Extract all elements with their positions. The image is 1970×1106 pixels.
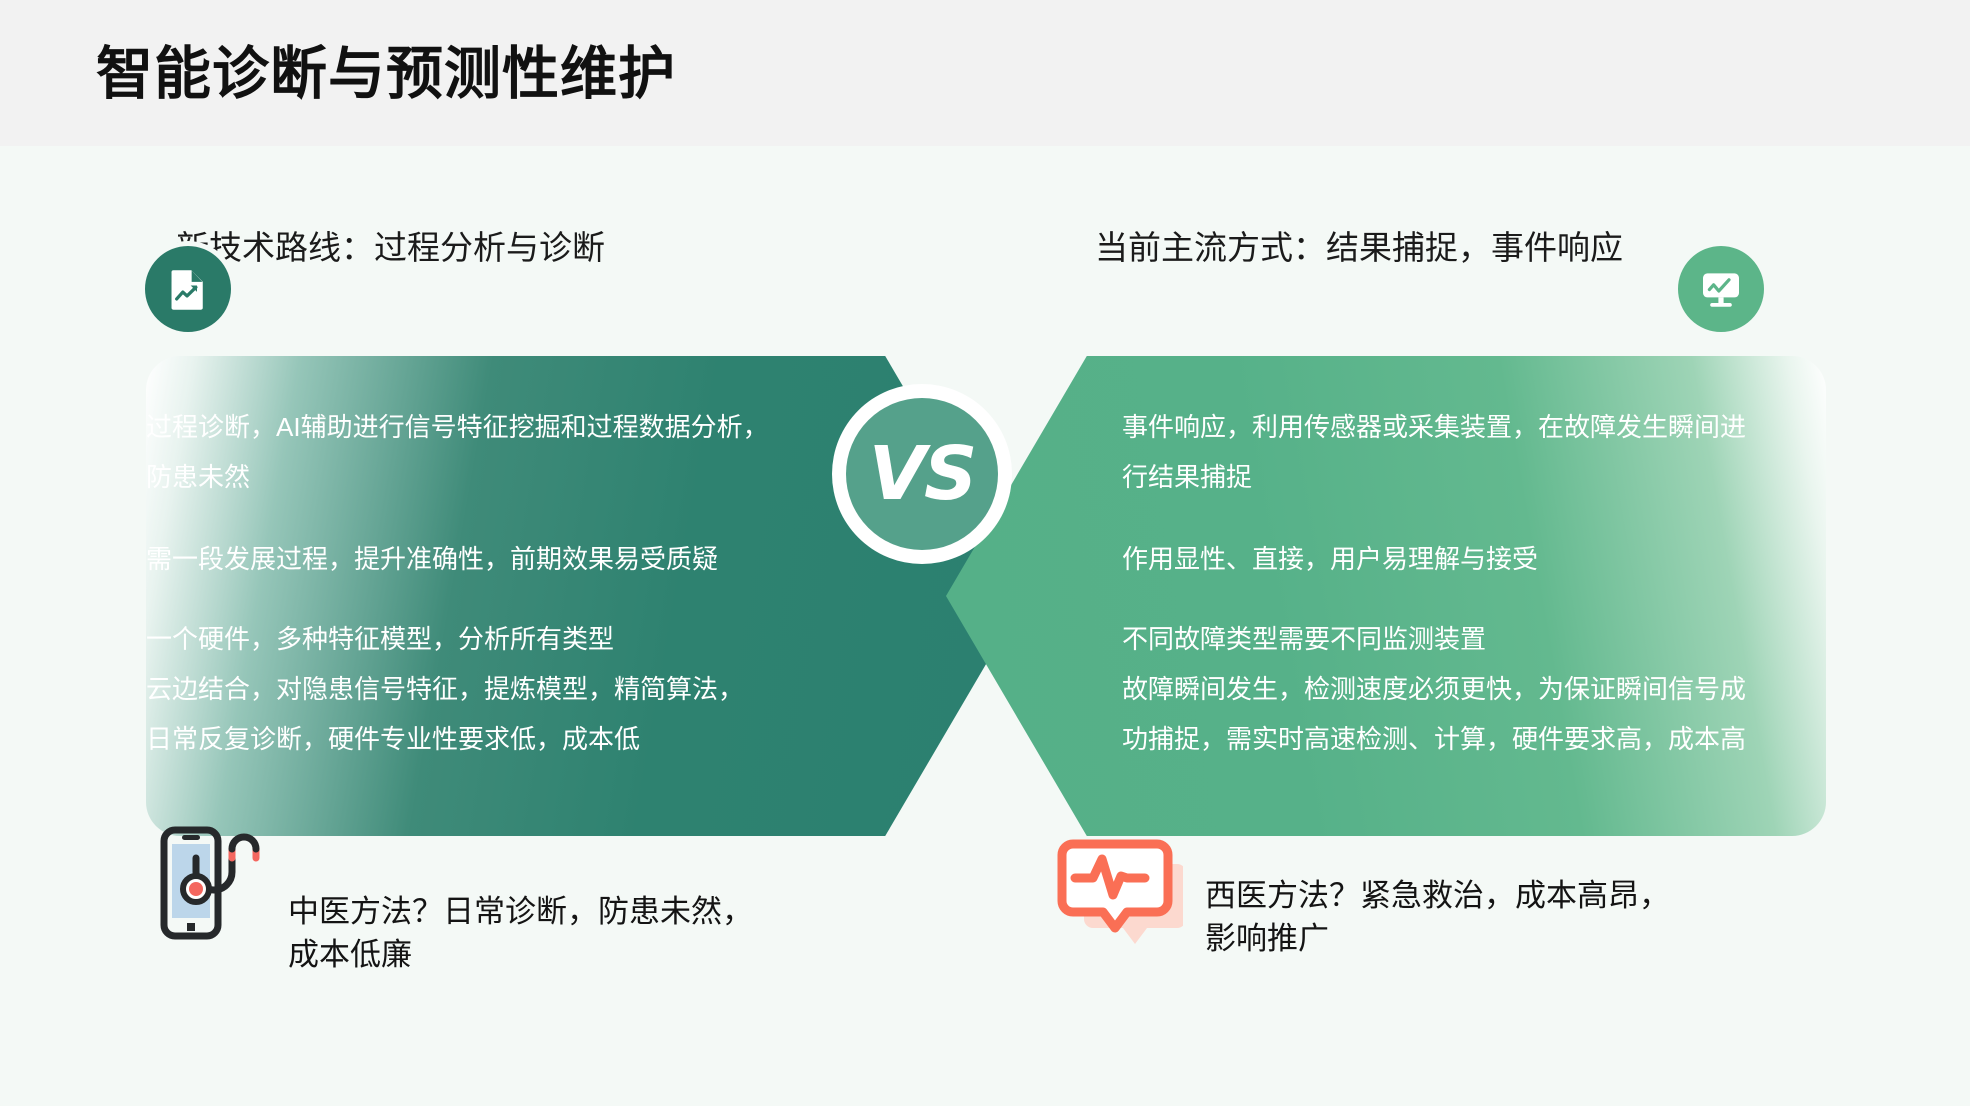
right-card-badge: [1673, 241, 1769, 337]
right-card-paragraph-3: 不同故障类型需要不同监测装置 故障瞬间发生，检测速度必须更快，为保证瞬间信号成 …: [1122, 614, 1822, 764]
left-footer-caption: 中医方法？日常诊断，防患未然， 成本低廉: [288, 818, 753, 976]
page-title: 智能诊断与预测性维护: [96, 28, 676, 110]
monitor-chart-icon: [1697, 265, 1745, 313]
phone-stethoscope-icon: [150, 818, 278, 946]
left-card-badge: [140, 241, 236, 337]
vs-label: VS: [869, 431, 976, 517]
slide-stage: 新技术路线：过程分析与诊断 当前主流方式：结果捕捉，事件响应 过程诊断，AI辅助…: [0, 146, 1970, 1106]
document-trend-icon: [165, 266, 211, 312]
left-footer: 中医方法？日常诊断，防患未然， 成本低廉: [150, 818, 753, 976]
ecg-speech-bubble-icon: [1055, 826, 1183, 954]
vs-badge: VS: [832, 384, 1012, 564]
vs-disc: VS: [846, 398, 998, 550]
left-card-paragraph-3: 一个硬件，多种特征模型，分析所有类型 云边结合，对隐患信号特征，提炼模型，精简算…: [146, 614, 846, 764]
right-footer-caption: 西医方法？紧急救治，成本高昂， 影响推广: [1205, 826, 1670, 960]
right-card-paragraph-1: 事件响应，利用传感器或采集装置，在故障发生瞬间进 行结果捕捉: [1122, 402, 1822, 502]
right-card-paragraph-2: 作用显性、直接，用户易理解与接受: [1122, 534, 1822, 584]
left-card-paragraph-1: 过程诊断，AI辅助进行信号特征挖掘和过程数据分析， 防患未然: [146, 402, 846, 502]
left-card-paragraph-2: 需一段发展过程，提升准确性，前期效果易受质疑: [146, 534, 846, 584]
right-footer: 西医方法？紧急救治，成本高昂， 影响推广: [1055, 826, 1670, 960]
right-column-heading: 当前主流方式：结果捕捉，事件响应: [1095, 221, 1623, 269]
right-comparison-card[interactable]: 事件响应，利用传感器或采集装置，在故障发生瞬间进 行结果捕捉 作用显性、直接，用…: [946, 356, 1826, 836]
header-bar: 智能诊断与预测性维护: [0, 0, 1970, 146]
left-column-heading: 新技术路线：过程分析与诊断: [176, 221, 605, 269]
